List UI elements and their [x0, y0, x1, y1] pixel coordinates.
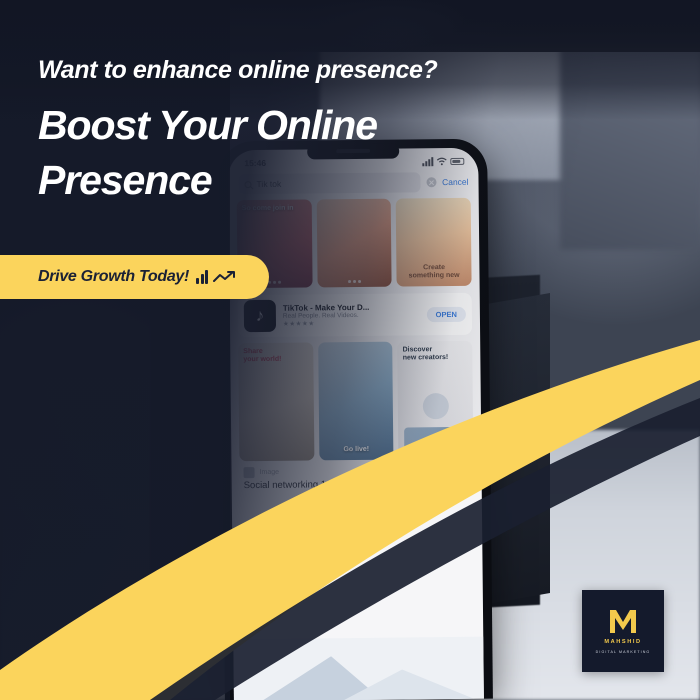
trend-arrow-icon: [213, 271, 235, 283]
headline-line-1: Boost Your Online: [38, 98, 468, 153]
logo-tagline: DIGITAL MARKETING: [596, 650, 651, 654]
kicker-text: Want to enhance online presence?: [38, 56, 437, 85]
ad-creative: 15:46 Tik tok Cancel: [0, 0, 700, 700]
page-title: Boost Your Online Presence: [38, 98, 468, 207]
cta-label: Drive Growth Today!: [38, 268, 189, 286]
headline-line-2: Presence: [38, 153, 468, 208]
logo-name: MAHSHID: [604, 639, 641, 645]
cta-button[interactable]: Drive Growth Today!: [0, 255, 269, 299]
logo-mark-m-icon: [608, 608, 638, 634]
bar-chart-trend-icon: [196, 270, 208, 284]
screen-bottom-graphic: [233, 637, 484, 700]
brand-logo: MAHSHID DIGITAL MARKETING: [582, 590, 664, 672]
